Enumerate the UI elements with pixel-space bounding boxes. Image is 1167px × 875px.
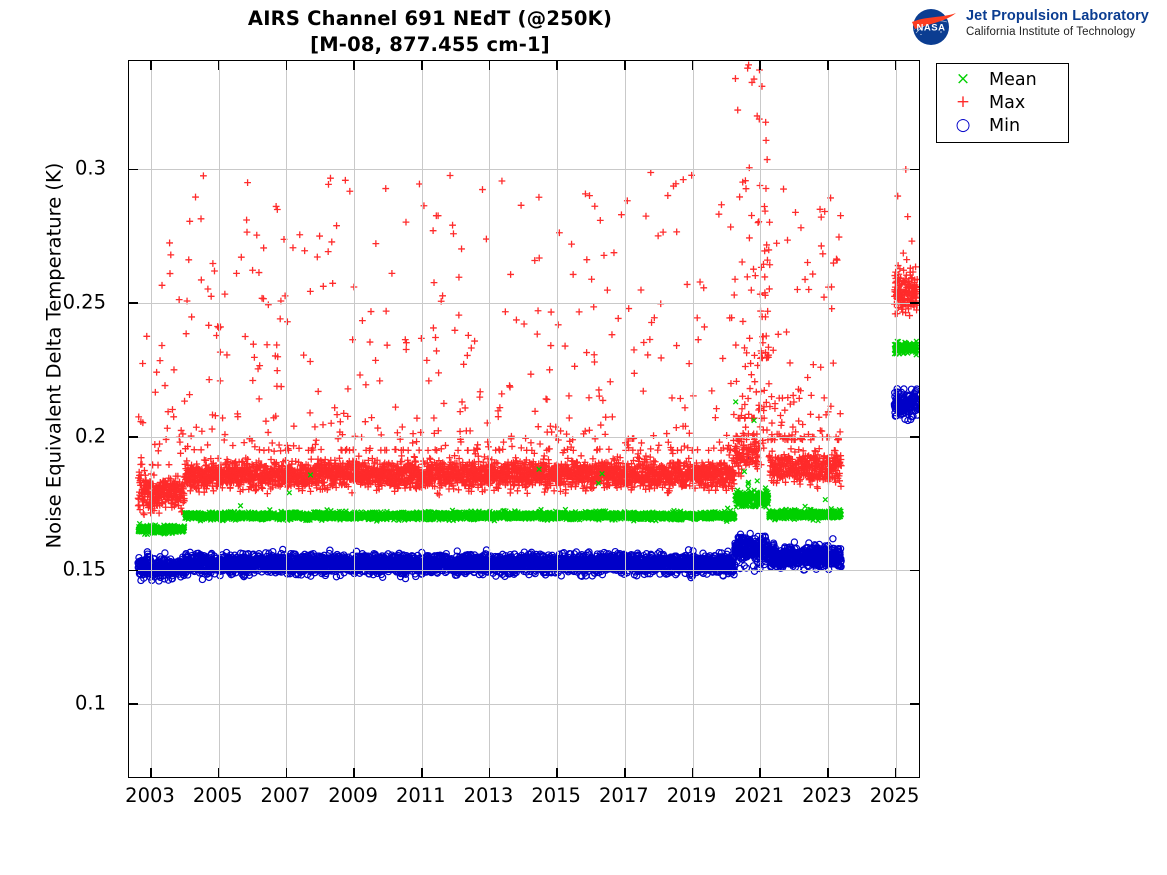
chart-title-line1: AIRS Channel 691 NEdT (@250K) [0, 6, 860, 32]
x-tick-label: 2007 [261, 784, 311, 807]
x-axis-tick [286, 61, 288, 70]
x-axis-tick [489, 768, 491, 777]
x-axis-tick [759, 768, 761, 777]
x-axis-tick [218, 61, 220, 70]
plot-inner [129, 61, 919, 777]
legend-label-mean: Mean [989, 71, 1037, 89]
y-axis-tick [910, 302, 919, 304]
x-axis-tick [624, 768, 626, 777]
x-tick-label: 2015 [531, 784, 581, 807]
y-gridline [129, 437, 919, 438]
x-tick-label: 2023 [802, 784, 852, 807]
svg-text:NASA: NASA [917, 23, 946, 34]
y-axis-tick [910, 703, 919, 705]
x-axis-tick [692, 61, 694, 70]
legend-item-max: + Max [937, 91, 1068, 114]
y-gridline [129, 169, 919, 170]
y-axis-tick [129, 302, 138, 304]
x-tick-label: 2003 [125, 784, 175, 807]
y-tick-label: 0.15 [63, 558, 106, 581]
legend-label-min: Min [989, 117, 1020, 135]
x-tick-label: 2009 [328, 784, 378, 807]
x-axis-tick [150, 61, 152, 70]
jpl-logo-text: Jet Propulsion Laboratory California Ins… [966, 8, 1149, 39]
chart-title-line2: [M-08, 877.455 cm-1] [0, 32, 860, 58]
y-axis-tick [129, 703, 138, 705]
y-gridline [129, 570, 919, 571]
x-tick-label: 2017 [599, 784, 649, 807]
x-axis-tick [353, 768, 355, 777]
nasa-meatball-icon: NASA [906, 7, 960, 47]
y-axis-tick-labels: 0.10.150.20.250.3 [0, 60, 120, 778]
x-tick-label: 2019 [667, 784, 717, 807]
jpl-name: Jet Propulsion Laboratory [966, 8, 1149, 25]
y-axis-tick [910, 570, 919, 572]
y-axis-tick [129, 169, 138, 171]
legend-marker-min-icon: ○ [937, 117, 989, 134]
chart-title: AIRS Channel 691 NEdT (@250K) [M-08, 877… [0, 6, 860, 58]
legend-item-mean: × Mean [937, 68, 1068, 91]
y-axis-tick [129, 570, 138, 572]
chart-legend: × Mean + Max ○ Min [936, 63, 1069, 143]
x-axis-tick [353, 61, 355, 70]
y-axis-tick [910, 169, 919, 171]
x-axis-tick [150, 768, 152, 777]
x-axis-tick [759, 61, 761, 70]
caltech-name: California Institute of Technology [966, 25, 1149, 39]
y-tick-label: 0.25 [63, 291, 106, 314]
x-axis-tick [895, 61, 897, 70]
y-tick-label: 0.3 [75, 157, 106, 180]
x-tick-label: 2005 [193, 784, 243, 807]
x-axis-tick-labels: 2003200520072009201120132015201720192021… [128, 784, 920, 814]
y-gridline [129, 704, 919, 705]
y-gridline [129, 303, 919, 304]
x-axis-tick [218, 768, 220, 777]
x-axis-tick [827, 768, 829, 777]
legend-item-min: ○ Min [937, 114, 1068, 137]
nasa-jpl-logo: NASA Jet Propulsion Laboratory Californi… [906, 4, 1161, 50]
x-axis-tick [421, 61, 423, 70]
x-axis-tick [556, 61, 558, 70]
y-tick-label: 0.1 [75, 692, 106, 715]
plot-area [128, 60, 920, 778]
x-axis-tick [556, 768, 558, 777]
x-axis-tick [827, 61, 829, 70]
y-axis-tick [129, 436, 138, 438]
x-axis-tick [489, 61, 491, 70]
x-axis-tick [895, 768, 897, 777]
legend-marker-mean-icon: × [937, 71, 989, 88]
x-axis-tick [286, 768, 288, 777]
x-tick-label: 2025 [870, 784, 920, 807]
legend-label-max: Max [989, 94, 1025, 112]
x-tick-label: 2013 [464, 784, 514, 807]
x-axis-tick [624, 61, 626, 70]
series-max [135, 61, 919, 518]
x-tick-label: 2021 [734, 784, 784, 807]
y-axis-tick [910, 436, 919, 438]
x-tick-label: 2011 [396, 784, 446, 807]
x-axis-tick [421, 768, 423, 777]
legend-marker-max-icon: + [937, 94, 989, 111]
y-tick-label: 0.2 [75, 424, 106, 447]
x-axis-tick [692, 768, 694, 777]
